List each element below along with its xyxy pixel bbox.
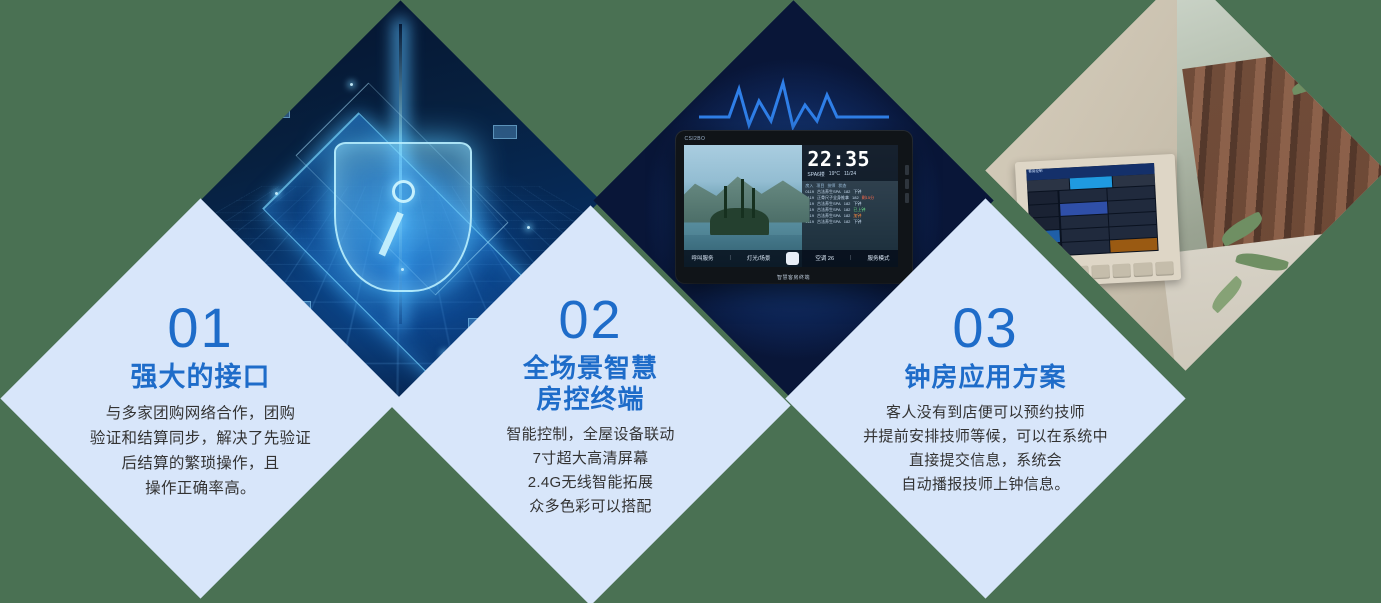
bar-item-aircon[interactable]: 空调 26 (815, 254, 834, 262)
table-row: 0119 古法养生SPA 182 下钟 (805, 218, 894, 224)
card-03-number: 03 (952, 300, 1018, 354)
panel-menu-item[interactable] (1058, 188, 1106, 202)
light-spark (526, 225, 529, 228)
table-row: 0119 古法养生SPA 182 加钟 (805, 212, 894, 218)
diamond-cards-stage: CSI2BO 22:35 (0, 0, 1381, 603)
light-spark (400, 267, 403, 270)
th-cell: 项目 (816, 182, 824, 188)
clock-meta: SPA6楼 19°C 11/24 (807, 170, 893, 177)
td-cell: 加钟 (853, 212, 861, 218)
tablet-bottom-bar[interactable]: 呼叫服务 | 灯光/场景 空调 26 | 服务模式 (683, 249, 897, 266)
card-02-content: 02 全场景智慧 房控终端 智能控制，全屋设备联动 7寸超大高清屏幕 2.4G无… (449, 264, 732, 547)
table-row: 0119 古法养生SPA 182 已上钟 (805, 206, 894, 212)
clock-time: 22:35 (807, 148, 893, 168)
td-cell: 已上钟 (853, 206, 865, 212)
pulse-wave-icon (698, 74, 888, 134)
clock-widget: 22:35 SPA6楼 19°C 11/24 (802, 144, 897, 180)
bar-divider: | (729, 255, 730, 261)
panel-key[interactable] (1090, 264, 1109, 279)
bar-item-service-mode[interactable]: 服务模式 (867, 254, 889, 262)
table-header-row: 房入 项目 技师 状态 (805, 182, 894, 188)
plant-leaf (1268, 287, 1314, 320)
meta-temp: 19°C (828, 170, 839, 177)
td-cell: 古法养生SPA (817, 218, 841, 224)
card-03-image-inner: 客房控制 (1044, 29, 1327, 312)
th-cell: 房入 (805, 182, 813, 188)
panel-menu-right[interactable] (1106, 186, 1156, 252)
panel-left-item[interactable] (1029, 217, 1058, 230)
room-control-tablet[interactable]: CSI2BO 22:35 (675, 130, 911, 282)
card-01-number: 01 (167, 300, 233, 354)
meta-date: 11/24 (843, 170, 855, 177)
panel-menu-item[interactable] (1108, 224, 1156, 238)
td-cell: 古法养生SPA (817, 188, 841, 194)
card-01-content: 01 强大的接口 与多家团购网络合作，团购 验证和结算同步，解决了先验证 后结算… (59, 257, 342, 540)
tree-shape (723, 185, 726, 217)
panel-left-item[interactable] (1028, 204, 1057, 217)
panel-left-item[interactable] (1028, 191, 1057, 204)
td-cell: 182 (843, 200, 850, 206)
tablet-side-buttons[interactable] (904, 164, 908, 202)
light-spark (350, 82, 353, 85)
panel-menu-item[interactable] (1106, 186, 1154, 200)
td-cell: 182 (852, 194, 859, 200)
panel-menu-item[interactable] (1107, 199, 1155, 213)
table-row: 0119 古法养生SPA 182 下钟 (805, 188, 894, 194)
th-cell: 状态 (838, 182, 846, 188)
td-cell: 剩15分 (861, 194, 873, 200)
panel-menu-item-selected[interactable] (1059, 201, 1107, 215)
bar-divider: | (850, 255, 851, 261)
panel-menu-item-highlight[interactable] (1109, 237, 1157, 251)
wallpaper-photo (683, 144, 802, 266)
panel-menu-left[interactable] (1058, 188, 1108, 254)
panel-left-item-active[interactable] (1030, 229, 1059, 242)
tablet-top-brand: CSI2BO (684, 135, 705, 141)
panel-body (1027, 185, 1158, 257)
panel-key[interactable] (1133, 262, 1152, 277)
wooden-screen (1182, 38, 1381, 251)
table-row: 0119 正骨尺子全身推拿 182 剩15分 (805, 194, 894, 200)
td-cell: 古法养生SPA (817, 206, 841, 212)
panel-menu-item[interactable] (1060, 227, 1108, 241)
panel-menu-item[interactable] (1061, 240, 1109, 254)
td-cell: 正骨尺子全身推拿 (817, 194, 849, 200)
tablet-side-panel: 22:35 SPA6楼 19°C 11/24 房入 项目 (802, 144, 897, 266)
light-spark (274, 192, 277, 195)
panel-menu-item[interactable] (1107, 212, 1155, 226)
panel-key[interactable] (1111, 263, 1130, 278)
tablet-screen[interactable]: 22:35 SPA6楼 19°C 11/24 房入 项目 (683, 144, 897, 266)
panel-menu-item[interactable] (1060, 214, 1108, 228)
td-cell: 182 (843, 212, 850, 218)
bar-item-call-service[interactable]: 呼叫服务 (691, 254, 713, 262)
bar-item-lighting[interactable]: 灯光/场景 (746, 254, 770, 262)
td-cell: 古法养生SPA (817, 200, 841, 206)
card-01-description: 与多家团购网络合作，团购 验证和结算同步，解决了先验证 后结算的繁琐操作，且 操… (89, 400, 310, 500)
tree-shape (752, 188, 755, 217)
tablet-brand-logo: 智慧客房终端 (675, 273, 911, 280)
card-02-number: 02 (558, 292, 622, 346)
td-cell: 古法养生SPA (817, 212, 841, 218)
lock-keyhole-icon (392, 179, 415, 202)
panel-lcd-screen[interactable]: 客房控制 (1025, 162, 1157, 257)
circuit-chip (492, 124, 516, 138)
table-row: 0119 古法养生SPA 182 下钟 (805, 200, 894, 206)
td-cell: 182 (843, 188, 850, 194)
card-02-title: 全场景智慧 房控终端 (522, 352, 657, 414)
panel-key[interactable] (1069, 265, 1088, 280)
td-cell: 下钟 (853, 218, 861, 224)
td-cell: 0119 (805, 188, 814, 194)
td-cell: 182 (843, 206, 850, 212)
card-03-content: 03 钟房应用方案 客人没有到店便可以预约技师 并提前安排技师等候，可以在系统中… (844, 257, 1127, 540)
panel-menu-columns[interactable] (1057, 185, 1157, 255)
card-01-title: 强大的接口 (130, 360, 270, 392)
td-cell: 182 (843, 218, 850, 224)
circuit-chip (257, 99, 289, 117)
card-03-title: 钟房应用方案 (904, 360, 1066, 392)
td-cell: 下钟 (853, 188, 861, 194)
th-cell: 技师 (827, 182, 835, 188)
home-grid-icon[interactable] (786, 251, 799, 264)
td-cell: 下钟 (853, 200, 861, 206)
tree-shape (740, 178, 743, 217)
card-02-description: 智能控制，全屋设备联动 7寸超大高清屏幕 2.4G无线智能拓展 众多色彩可以搭配 (506, 422, 674, 518)
card-03-description: 客人没有到店便可以预约技师 并提前安排技师等候，可以在系统中 直接提交信息，系统… (863, 400, 1108, 496)
panel-key[interactable] (1154, 261, 1173, 276)
meta-room: SPA6楼 (807, 170, 824, 177)
